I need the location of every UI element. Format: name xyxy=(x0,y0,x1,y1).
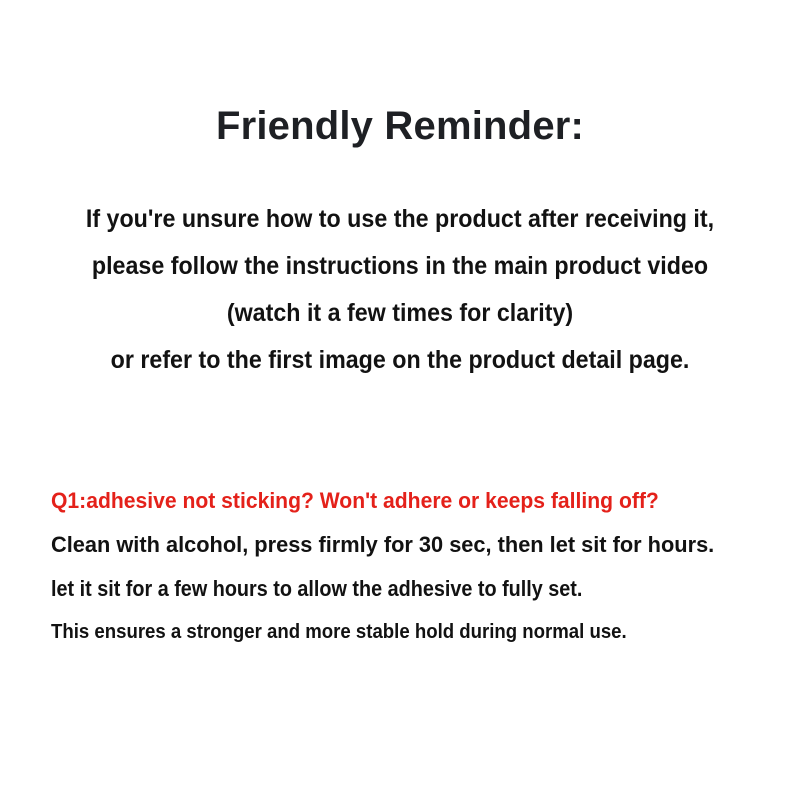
faq-answer-line-1: Clean with alcohol, press firmly for 30 … xyxy=(51,523,782,567)
faq-answer-line-2: let it sit for a few hours to allow the … xyxy=(51,567,715,611)
faq-answer-line-3: This ensures a stronger and more stable … xyxy=(51,611,737,654)
faq-question-q1: Q1:adhesive not sticking? Won't adhere o… xyxy=(51,479,759,523)
faq-block: Q1:adhesive not sticking? Won't adhere o… xyxy=(51,479,789,654)
reminder-poster: Friendly Reminder: If you're unsure how … xyxy=(0,0,800,800)
intro-line-3: (watch it a few times for clarity) xyxy=(28,290,772,337)
intro-line-4: or refer to the first image on the produ… xyxy=(28,337,772,384)
intro-line-2: please follow the instructions in the ma… xyxy=(28,243,772,290)
intro-paragraph: If you're unsure how to use the product … xyxy=(0,196,800,384)
page-title: Friendly Reminder: xyxy=(0,102,800,150)
title-block: Friendly Reminder: xyxy=(0,102,800,150)
intro-line-1: If you're unsure how to use the product … xyxy=(28,196,772,243)
